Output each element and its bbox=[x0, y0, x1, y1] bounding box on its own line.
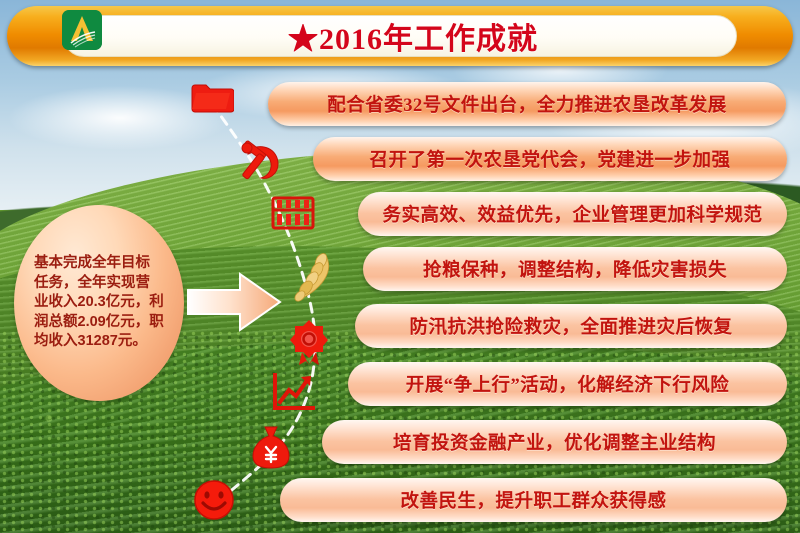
smiley-face-icon bbox=[192, 478, 236, 527]
abacus-icon bbox=[270, 195, 316, 236]
achievement-row-2[interactable]: 召开了第一次农垦党代会，党建进一步加强 bbox=[313, 137, 787, 181]
achievement-label: 召开了第一次农垦党代会，党建进一步加强 bbox=[369, 146, 730, 172]
achievement-label: 务实高效、效益优先，企业管理更加科学规范 bbox=[382, 201, 762, 227]
achievement-label: 培育投资金融产业，优化调整主业结构 bbox=[393, 429, 716, 455]
achievement-row-7[interactable]: 培育投资金融产业，优化调整主业结构 bbox=[322, 420, 787, 464]
page-title: ★2016年工作成就 bbox=[64, 14, 736, 58]
achievement-row-8[interactable]: 改善民生，提升职工群众获得感 bbox=[280, 478, 787, 522]
money-bag-icon bbox=[250, 424, 292, 475]
achievement-row-6[interactable]: 开展“争上行”活动，化解经济下行风险 bbox=[348, 362, 787, 406]
hammer-sickle-icon bbox=[238, 136, 284, 191]
achievement-label: 防汛抗洪抢险救灾，全面推进灾后恢复 bbox=[409, 313, 732, 339]
title-bar-frame: ★2016年工作成就 bbox=[7, 6, 793, 66]
achievement-row-5[interactable]: 防汛抗洪抢险救灾，全面推进灾后恢复 bbox=[355, 304, 787, 348]
folder-icon bbox=[190, 80, 234, 119]
wheat-ear-icon bbox=[290, 250, 336, 309]
achievement-label: 配合省委32号文件出台，全力推进农垦改革发展 bbox=[327, 91, 727, 117]
summary-text: 基本完成全年目标任务，全年实现营业收入20.3亿元，利润总额2.09亿元，职均收… bbox=[34, 254, 164, 352]
summary-ellipse: 基本完成全年目标任务，全年实现营业收入20.3亿元，利润总额2.09亿元，职均收… bbox=[14, 205, 184, 401]
achievement-row-3[interactable]: 务实高效、效益优先，企业管理更加科学规范 bbox=[358, 192, 787, 236]
award-ribbon-icon bbox=[288, 318, 330, 371]
right-block-arrow-icon bbox=[186, 270, 282, 334]
achievement-label: 开展“争上行”活动，化解经济下行风险 bbox=[406, 371, 730, 397]
agri-mountain-road-logo-icon bbox=[62, 10, 102, 50]
title-bar-inner: ★2016年工作成就 bbox=[63, 15, 737, 57]
achievement-label: 改善民生，提升职工群众获得感 bbox=[400, 487, 666, 513]
achievement-row-4[interactable]: 抢粮保种，调整结构，降低灾害损失 bbox=[363, 247, 787, 291]
achievement-label: 抢粮保种，调整结构，降低灾害损失 bbox=[423, 256, 727, 282]
slide-canvas: ★2016年工作成就 基本完成全年目标任务，全年实现营业收入20.3亿元，利润总… bbox=[0, 0, 800, 533]
achievement-row-1[interactable]: 配合省委32号文件出台，全力推进农垦改革发展 bbox=[268, 82, 786, 126]
growth-chart-icon bbox=[270, 372, 316, 419]
